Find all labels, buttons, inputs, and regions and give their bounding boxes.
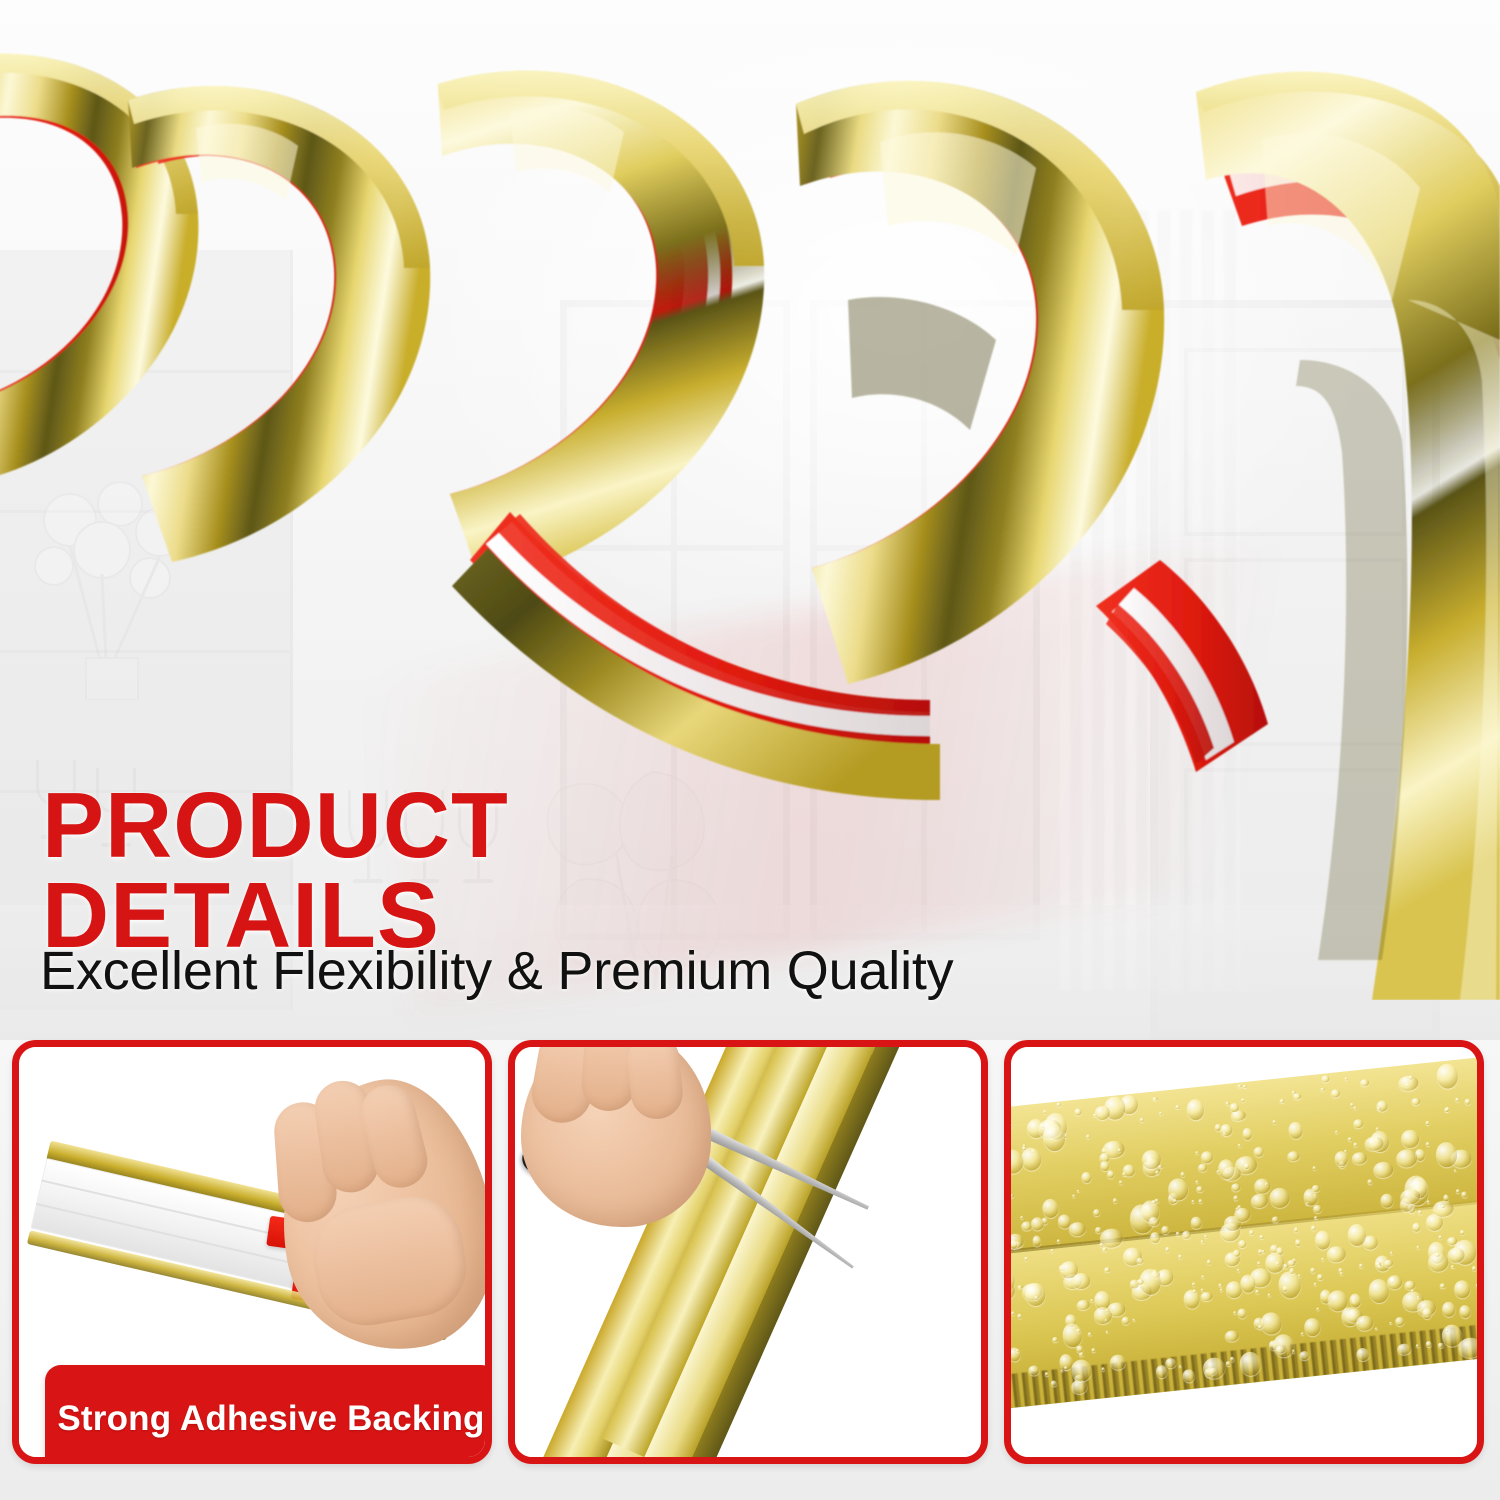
waterproof-surface-photo [1011, 1047, 1477, 1457]
feature-panel-waterproof[interactable]: Waterproof Surface [1004, 1040, 1484, 1464]
feature-panels: Strong Adhesive Backing [0, 1040, 1500, 1500]
hand [521, 1047, 711, 1227]
caption-adhesive-label: Strong Adhesive Backing [57, 1399, 484, 1439]
product-detail-image: PRODUCT DETAILS Excellent Flexibility & … [0, 0, 1500, 1500]
page-title-line-1: PRODUCT [42, 773, 509, 877]
coil-5 [1196, 72, 1500, 1000]
caption-adhesive: Strong Adhesive Backing [45, 1365, 492, 1464]
feature-panel-cut[interactable]: Easy to Cut [508, 1040, 988, 1464]
page-subtitle: Excellent Flexibility & Premium Quality [40, 940, 953, 1002]
feature-panel-adhesive[interactable]: Strong Adhesive Backing [12, 1040, 492, 1464]
coil-4 [796, 81, 1164, 684]
gold-strip-wet [1011, 1053, 1477, 1410]
tail-adhesive-back [1096, 560, 1268, 772]
coil-3 [438, 71, 764, 586]
easy-to-cut-photo [515, 1047, 981, 1457]
